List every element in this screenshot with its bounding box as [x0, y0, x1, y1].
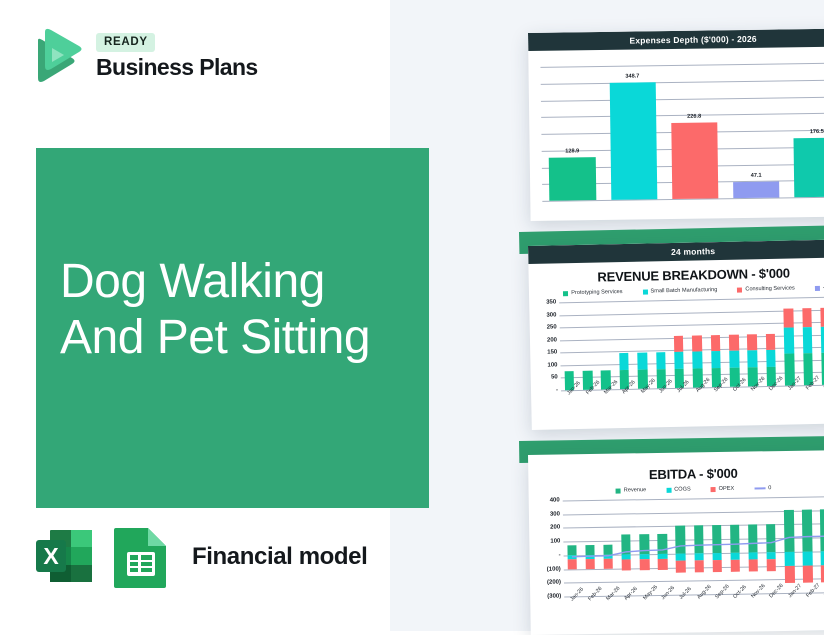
- bar-segment: [802, 327, 812, 353]
- legend-label: Small Batch Manufacturing: [650, 287, 717, 294]
- bar-value-label: 47.1: [726, 173, 787, 180]
- y-axis-tick: (200): [547, 580, 561, 586]
- bar-segment: [820, 308, 824, 327]
- gridline: [541, 79, 824, 84]
- ready-badge: READY: [96, 33, 155, 52]
- chart2-plot-area: 35030025020015010050-Jan-26Feb-26Mar-26A…: [559, 296, 824, 390]
- stacked-bar[interactable]: [711, 335, 722, 387]
- svg-text:X: X: [43, 543, 59, 569]
- bar-segment: [729, 335, 739, 350]
- y-axis-tick: -: [559, 552, 561, 558]
- play-triangle-logo-icon: [28, 28, 82, 84]
- y-axis-tick: 100: [547, 362, 557, 368]
- bar[interactable]: [733, 182, 780, 198]
- bar[interactable]: [671, 122, 719, 199]
- excel-icon: X: [32, 524, 98, 590]
- legend-label: Consulting Services: [745, 285, 795, 292]
- chart-card-revenue-breakdown[interactable]: 24 months REVENUE BREAKDOWN - $'000 Prot…: [528, 239, 824, 430]
- legend-swatch-icon: [616, 488, 621, 493]
- legend-item[interactable]: Small Batch Manufacturing: [642, 287, 717, 295]
- stacked-bar[interactable]: [802, 308, 813, 385]
- gridline: [540, 63, 824, 68]
- stacked-bar[interactable]: [729, 335, 740, 387]
- y-axis-tick: 400: [550, 498, 560, 504]
- y-axis-tick: 100: [550, 539, 560, 545]
- y-axis-tick: 150: [547, 350, 557, 356]
- bar-segment: [748, 350, 758, 368]
- bar-value-label: 348.7: [602, 73, 663, 80]
- bar-segment: [729, 350, 739, 368]
- stacked-bar[interactable]: [747, 335, 758, 387]
- bar-segment: [802, 308, 812, 327]
- legend-item[interactable]: Consulting Services: [737, 285, 795, 292]
- y-axis-tick: (300): [547, 593, 561, 599]
- y-axis-tick: 200: [547, 337, 557, 343]
- y-axis-tick: 200: [550, 525, 560, 531]
- bar-value-label: 176.5: [786, 128, 824, 135]
- stacked-bar[interactable]: [766, 334, 777, 386]
- stacked-bar[interactable]: [692, 336, 703, 388]
- legend-item[interactable]: Revenue: [616, 487, 646, 493]
- legend-swatch-icon: [563, 291, 568, 296]
- bar-value-label: 226.8: [664, 113, 725, 120]
- bar[interactable]: [794, 138, 824, 198]
- chart1-plot-area: 128.9348.7226.847.1176.5: [540, 63, 824, 201]
- bar-segment: [674, 351, 684, 369]
- legend-item[interactable]: Prototyping Services: [563, 289, 622, 296]
- footer-row: X Financial model: [32, 524, 367, 590]
- legend-label: OPEX: [719, 486, 735, 492]
- bar-segment: [766, 349, 776, 367]
- chart-card-ebitda[interactable]: EBITDA - $'000 RevenueCOGSOPEX0 40030020…: [528, 450, 824, 635]
- y-axis-tick: -: [556, 387, 558, 393]
- bar-segment: [693, 351, 703, 369]
- legend-item[interactable]: 0: [754, 485, 771, 491]
- chart3-plot-area: 400300200100-(100)(200)(300)Jan-26Feb-26…: [563, 496, 824, 597]
- legend-swatch-icon: [754, 487, 765, 489]
- y-axis-tick: 300: [550, 511, 560, 517]
- bar-segment: [747, 335, 757, 350]
- stacked-bar[interactable]: [784, 309, 795, 386]
- y-axis-tick: 50: [551, 375, 558, 381]
- page-title: Dog Walking And Pet Sitting: [60, 254, 370, 365]
- google-sheets-icon: [112, 524, 170, 590]
- chart1-header: Expenses Depth ($'000) - 2026: [528, 28, 824, 51]
- bar[interactable]: [549, 157, 596, 201]
- bar-segment: [711, 351, 721, 369]
- bar-segment: [619, 352, 629, 370]
- bar-value-label: 128.9: [542, 148, 603, 155]
- chart-card-expenses-depth[interactable]: Expenses Depth ($'000) - 2026 128.9348.7…: [528, 28, 824, 221]
- y-axis-tick: 300: [546, 312, 556, 318]
- bar-segment: [674, 336, 684, 351]
- footer-label: Financial model: [192, 543, 367, 571]
- legend-item[interactable]: COGS: [666, 486, 691, 492]
- legend-swatch-icon: [666, 487, 671, 492]
- chart3-title: EBITDA - $'000: [528, 450, 824, 486]
- stacked-bar[interactable]: [820, 308, 824, 385]
- brand-logo-block: READY Business Plans: [28, 28, 258, 84]
- bar-segment: [766, 334, 776, 349]
- y-axis-tick: (100): [547, 566, 561, 572]
- legend-swatch-icon: [737, 287, 742, 292]
- bar-segment: [637, 352, 647, 370]
- legend-label: Revenue: [624, 487, 646, 493]
- legend-swatch-icon: [642, 289, 647, 294]
- legend-item[interactable]: -: [815, 285, 824, 291]
- brand-name: Business Plans: [96, 55, 258, 79]
- bar-segment: [711, 335, 721, 350]
- legend-swatch-icon: [815, 285, 820, 290]
- legend-item[interactable]: OPEX: [711, 486, 735, 492]
- bar-segment: [784, 309, 794, 328]
- stacked-bar[interactable]: [674, 336, 685, 388]
- legend-label: COGS: [674, 486, 691, 492]
- bar-segment: [692, 336, 702, 351]
- bar[interactable]: [609, 82, 657, 199]
- legend-label: 0: [768, 485, 771, 491]
- bar-segment: [656, 352, 666, 370]
- gridline: [541, 96, 824, 101]
- legend-swatch-icon: [711, 487, 716, 492]
- legend-label: Prototyping Services: [571, 289, 622, 296]
- y-axis-tick: 350: [546, 299, 556, 305]
- bar-segment: [784, 327, 794, 353]
- zero-line-series: [563, 496, 824, 597]
- y-axis-tick: 250: [547, 325, 557, 331]
